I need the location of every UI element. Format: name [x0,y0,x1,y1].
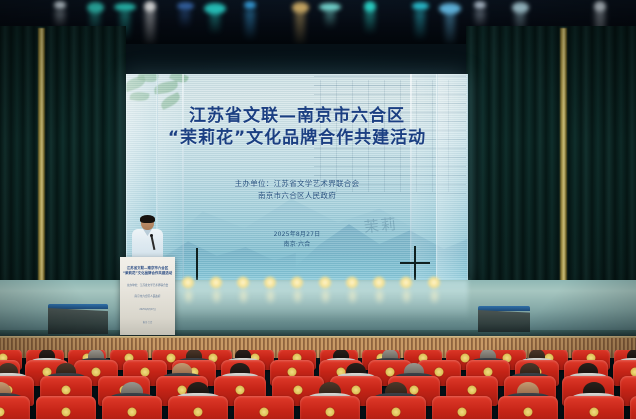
footlight-reflection-3 [238,287,249,305]
organizer-line1: 主办单位：江苏省文学艺术界联合会 [126,178,468,190]
podium-organizer-line1: 主办单位：江苏省文学艺术界联合会 [120,284,175,288]
date-block: 2025年8月27日 南京·六合 [126,230,468,249]
auditorium-seat[interactable] [234,396,294,419]
backdrop-text-layer: 江苏省文联—南京市六合区 “茉莉花”文化品牌合作共建活动 主办单位：江苏省文学艺… [126,74,468,280]
stage-light-0 [54,1,66,9]
auditorium-seat[interactable] [564,396,624,419]
stage-light-beam-6 [245,10,255,40]
auditorium-seat[interactable] [36,396,96,419]
microphone-head [150,234,153,237]
stage-light-beam-4 [180,10,190,28]
event-location: 南京·六合 [126,240,468,250]
footlight-reflection-6 [320,287,331,305]
audience-seating [0,350,636,419]
led-stand-right-cross [400,262,430,264]
stage-light-4 [177,2,194,10]
footlight-reflection-2 [211,287,222,305]
stage-light-beam-5 [210,10,220,34]
event-title-line1: 江苏省文联—南京市六合区 [126,106,468,128]
stage-light-beam-8 [325,10,335,28]
speaker-hair [140,215,155,223]
event-title: 江苏省文联—南京市六合区 “茉莉花”文化品牌合作共建活动 [126,106,468,150]
podium-title-line2: “茉莉花”文化品牌合作共建活动 [121,271,174,276]
auditorium-seat[interactable] [366,396,426,419]
auditorium-seat[interactable] [630,396,636,419]
footlight-reflection-7 [347,287,358,305]
stage-light-beam-9 [365,10,375,34]
speaker-at-podium [132,216,163,262]
podium-date: 2025年8月27日 [120,308,175,312]
stage-light-6 [244,1,256,9]
auditorium-seat[interactable] [168,396,228,419]
stage-light-beam-7 [295,10,305,44]
footlight-row [150,276,450,294]
footlight-reflection-4 [265,287,276,305]
podium: 江苏省文联—南京市六合区 “茉莉花”文化品牌合作共建活动 主办单位：江苏省文学艺… [120,257,175,335]
auditorium-seat[interactable] [0,396,30,419]
podium-organizer-line2: 南京市六合区人民政府 [120,295,175,299]
stage-monitor-left [48,304,108,330]
event-title-line2: “茉莉花”文化品牌合作共建活动 [126,128,468,150]
stage-light-beam-10 [415,10,425,40]
podium-location: 南京·六合 [120,321,175,325]
stage-light-10 [412,2,429,10]
event-date: 2025年8月27日 [126,230,468,240]
event-stage-photo: 茉莉 江苏省文联—南京市六合区 “茉莉花”文化品牌合作共建活动 主办单位：江苏省… [0,0,636,419]
organizer-line2: 南京市六合区人民政府 [126,190,468,202]
auditorium-seat[interactable] [432,396,492,419]
stage-monitor-right [478,306,530,328]
stage-light-beam-3 [145,10,155,44]
footlight-reflection-10 [429,287,440,305]
auditorium-seat[interactable] [498,396,558,419]
stage-light-12 [474,1,486,9]
podium-sign: 江苏省文联—南京市六合区 “茉莉花”文化品牌合作共建活动 主办单位：江苏省文学艺… [120,266,175,324]
auditorium-seat[interactable] [300,396,360,419]
stage-light-beam-11 [445,10,455,44]
auditorium-seat[interactable] [102,396,162,419]
organizer-block: 主办单位：江苏省文学艺术界联合会 南京市六合区人民政府 [126,178,468,201]
